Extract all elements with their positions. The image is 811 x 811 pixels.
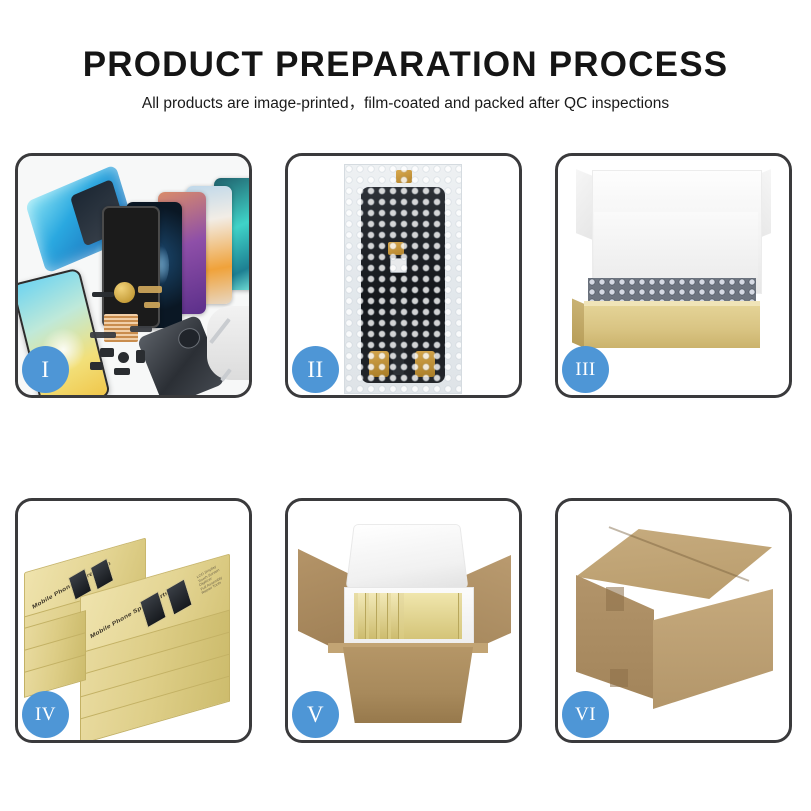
carton-tape-lower — [610, 669, 628, 687]
step-badge: I — [22, 346, 69, 393]
gold-box-face-group — [404, 593, 459, 639]
panel-bubble-wrap: II — [285, 153, 522, 398]
flex-cable-4 — [130, 326, 152, 332]
page-subtitle: All products are image-printed，film-coat… — [0, 93, 811, 115]
carton-front — [334, 647, 482, 723]
step-badge: VI — [562, 691, 609, 738]
box-spec-list: LCD DisplayTouch ScreenDigitizerFull Ass… — [196, 563, 224, 595]
bubble-wrap-bag — [344, 164, 462, 394]
panel-phone-parts: I — [15, 153, 252, 398]
chip-component-3 — [136, 350, 145, 363]
chip-component-4 — [90, 362, 103, 370]
step-badge: III — [562, 346, 609, 393]
carton-tape-upper — [606, 587, 624, 611]
chip-component-2 — [100, 348, 114, 357]
gold-boxes-inside — [354, 593, 462, 639]
gold-box-edge-3 — [380, 593, 388, 639]
step-badge: II — [292, 346, 339, 393]
panel-grid: I II — [15, 153, 796, 743]
page-title: PRODUCT PREPARATION PROCESS — [0, 44, 811, 86]
step-badge: IV — [22, 691, 69, 738]
panel-sealed-carton: VI — [555, 498, 792, 743]
tempered-glass-panel — [102, 206, 160, 328]
speaker-component — [114, 282, 135, 303]
gold-box-front — [584, 306, 760, 348]
flex-cable-1 — [138, 286, 162, 293]
flex-cable-3 — [90, 332, 116, 338]
panel-open-gold-box: III — [555, 153, 792, 398]
header: PRODUCT PREPARATION PROCESS All products… — [0, 0, 811, 115]
panel-stacked-boxes: Mobile Phone Spare Parts Mobile Phone Sp… — [15, 498, 252, 743]
chip-component-1 — [92, 292, 114, 297]
bubble-texture — [345, 165, 461, 393]
step-badge: V — [292, 691, 339, 738]
panel-foam-carton: V — [285, 498, 522, 743]
white-foam-sheet — [594, 212, 758, 278]
flex-cable-2 — [144, 302, 160, 308]
gold-box-edge-1 — [358, 593, 366, 639]
chip-component-5 — [114, 368, 130, 375]
camera-module — [118, 352, 129, 363]
gold-box-edge-4 — [391, 593, 399, 639]
box-product-image-b — [165, 578, 192, 615]
gold-box-edge-2 — [369, 593, 377, 639]
foam-box-lid — [346, 524, 469, 588]
